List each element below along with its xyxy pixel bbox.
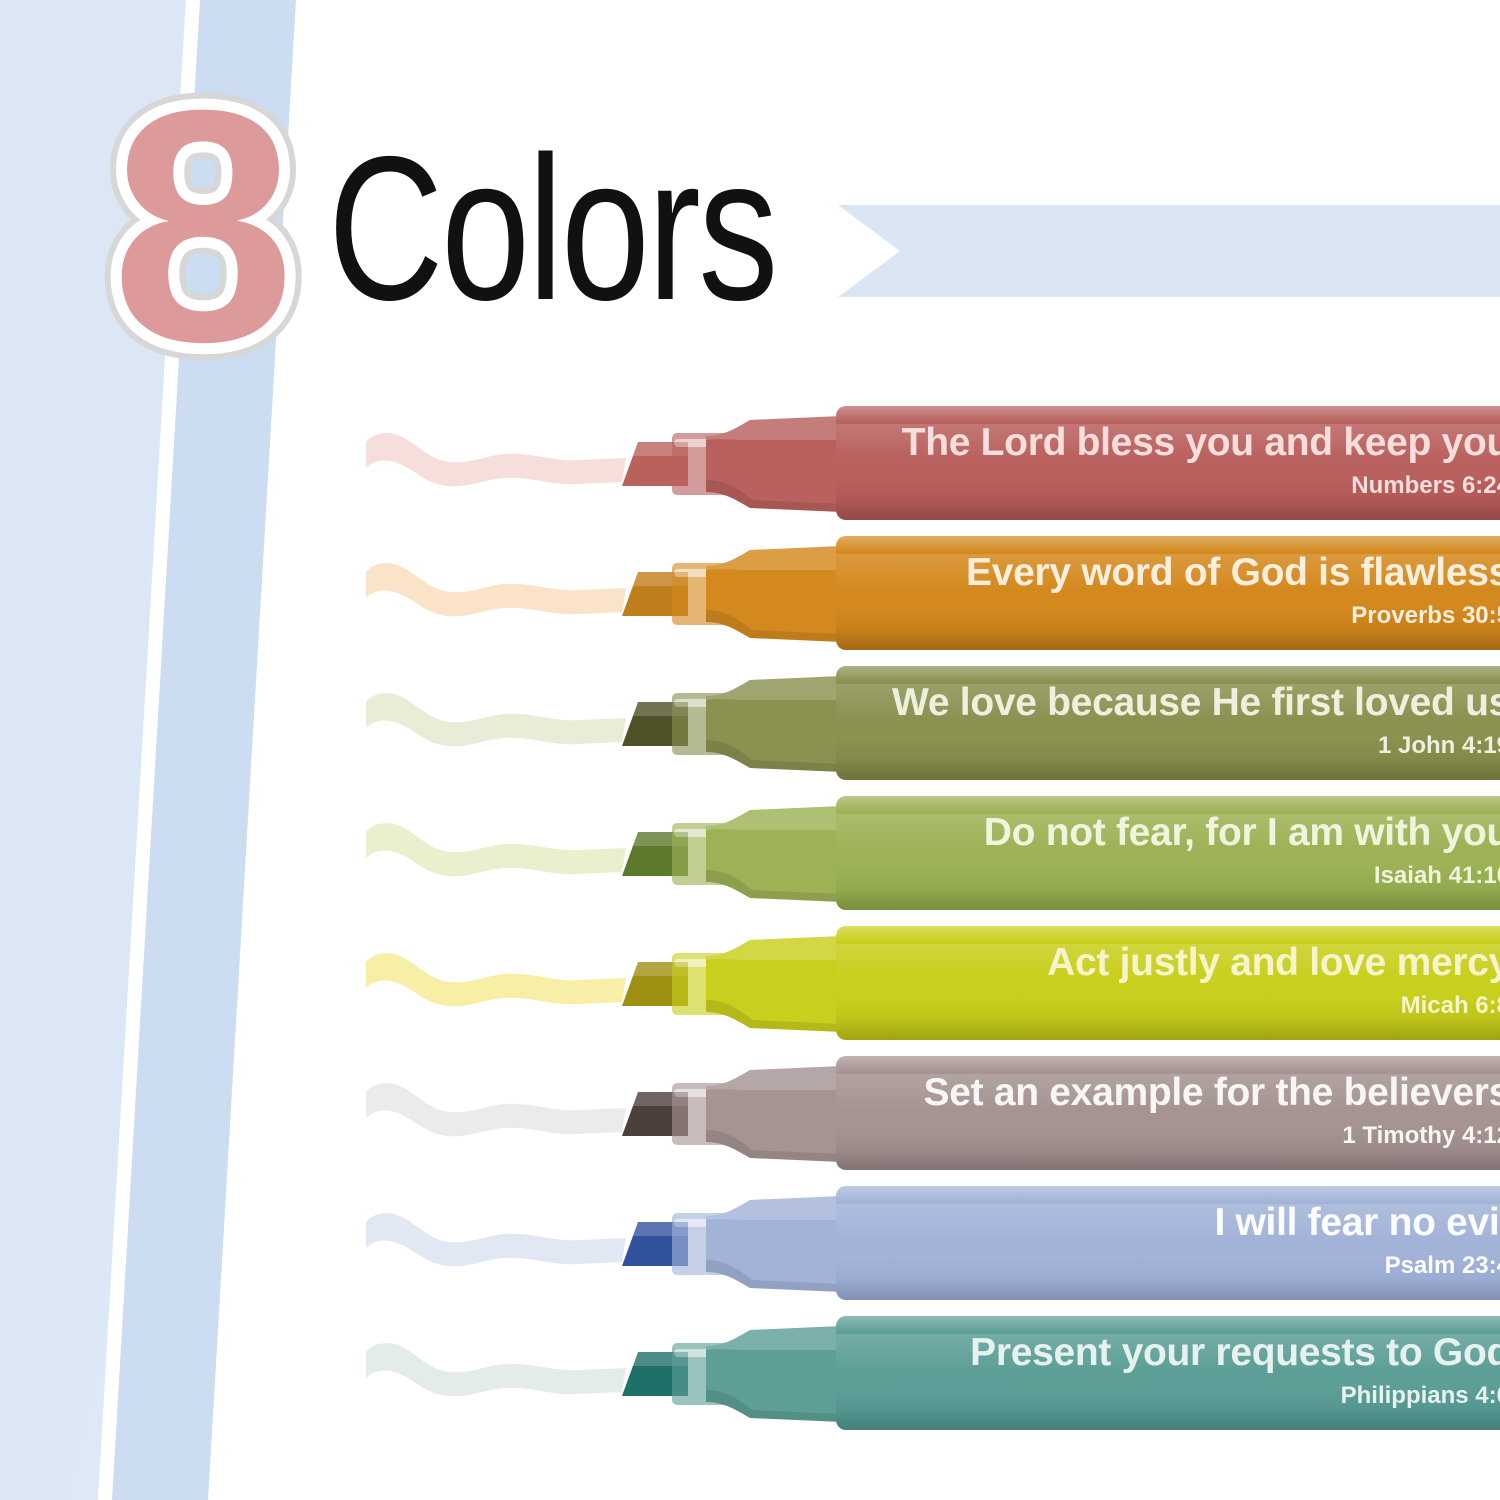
verse-text: We love because He first loved us (892, 680, 1500, 726)
barrel-shadow (836, 498, 1500, 520)
marker-barrel: Do not fear, for I am with you Isaiah 41… (836, 796, 1500, 910)
marker-row: We love because He first loved us 1 John… (0, 658, 1500, 788)
ink-swash (364, 946, 630, 1018)
verse-reference: Philippians 4:6 (1341, 1382, 1500, 1410)
barrel-shadow (836, 1278, 1500, 1300)
verse-reference: Proverbs 30:5 (1351, 602, 1500, 630)
barrel-shadow (836, 628, 1500, 650)
barrel-shadow (836, 1408, 1500, 1430)
page-title: Colors (328, 126, 776, 331)
count-badge-number: 8 (98, 65, 308, 387)
barrel-shadow (836, 758, 1500, 780)
verse-reference: Isaiah 41:10 (1374, 862, 1500, 890)
marker-row: Act justly and love mercy Micah 6:8 (0, 918, 1500, 1048)
ink-swash (364, 816, 630, 888)
count-badge: 8 8 (98, 65, 308, 387)
marker-barrel: Set an example for the believers 1 Timot… (836, 1056, 1500, 1170)
ink-swash (364, 686, 630, 758)
ink-swash (364, 556, 630, 628)
marker-shoulder (706, 414, 842, 514)
verse-reference: 1 John 4:19 (1378, 732, 1500, 760)
verse-reference: Numbers 6:24 (1351, 472, 1500, 500)
verse-reference: 1 Timothy 4:12 (1342, 1122, 1500, 1150)
marker-shoulder (706, 934, 842, 1034)
marker-shoulder (706, 674, 842, 774)
verse-text: Present your requests to God (970, 1330, 1500, 1376)
marker-row: Present your requests to God Philippians… (0, 1308, 1500, 1438)
marker-barrel: I will fear no evil Psalm 23:4 (836, 1186, 1500, 1300)
header-banner (838, 205, 1500, 297)
verse-text: Every word of God is flawless (966, 550, 1500, 596)
barrel-shadow (836, 1018, 1500, 1040)
marker-row: Set an example for the believers 1 Timot… (0, 1048, 1500, 1178)
verse-text: The Lord bless you and keep you (902, 420, 1500, 466)
marker-shoulder (706, 544, 842, 644)
verse-text: I will fear no evil (1214, 1200, 1500, 1246)
marker-shoulder (706, 1194, 842, 1294)
marker-barrel: The Lord bless you and keep you Numbers … (836, 406, 1500, 520)
marker-row: I will fear no evil Psalm 23:4 (0, 1178, 1500, 1308)
verse-reference: Micah 6:8 (1401, 992, 1500, 1020)
marker-row: The Lord bless you and keep you Numbers … (0, 398, 1500, 528)
verse-text: Act justly and love mercy (1047, 940, 1500, 986)
product-infographic: 8 8 Colors The Lord (0, 0, 1500, 1500)
marker-barrel: Present your requests to God Philippians… (836, 1316, 1500, 1430)
ink-swash (364, 1076, 630, 1148)
ink-swash (364, 1336, 630, 1408)
marker-shoulder (706, 1324, 842, 1424)
verse-reference: Psalm 23:4 (1385, 1252, 1500, 1280)
marker-barrel: Every word of God is flawless Proverbs 3… (836, 536, 1500, 650)
marker-barrel: Act justly and love mercy Micah 6:8 (836, 926, 1500, 1040)
verse-text: Do not fear, for I am with you (984, 810, 1500, 856)
marker-row: Do not fear, for I am with you Isaiah 41… (0, 788, 1500, 918)
verse-text: Set an example for the believers (924, 1070, 1500, 1116)
ink-swash (364, 1206, 630, 1278)
marker-row: Every word of God is flawless Proverbs 3… (0, 528, 1500, 658)
marker-shoulder (706, 804, 842, 904)
marker-shoulder (706, 1064, 842, 1164)
ink-swash (364, 426, 630, 498)
barrel-shadow (836, 888, 1500, 910)
barrel-shadow (836, 1148, 1500, 1170)
marker-barrel: We love because He first loved us 1 John… (836, 666, 1500, 780)
